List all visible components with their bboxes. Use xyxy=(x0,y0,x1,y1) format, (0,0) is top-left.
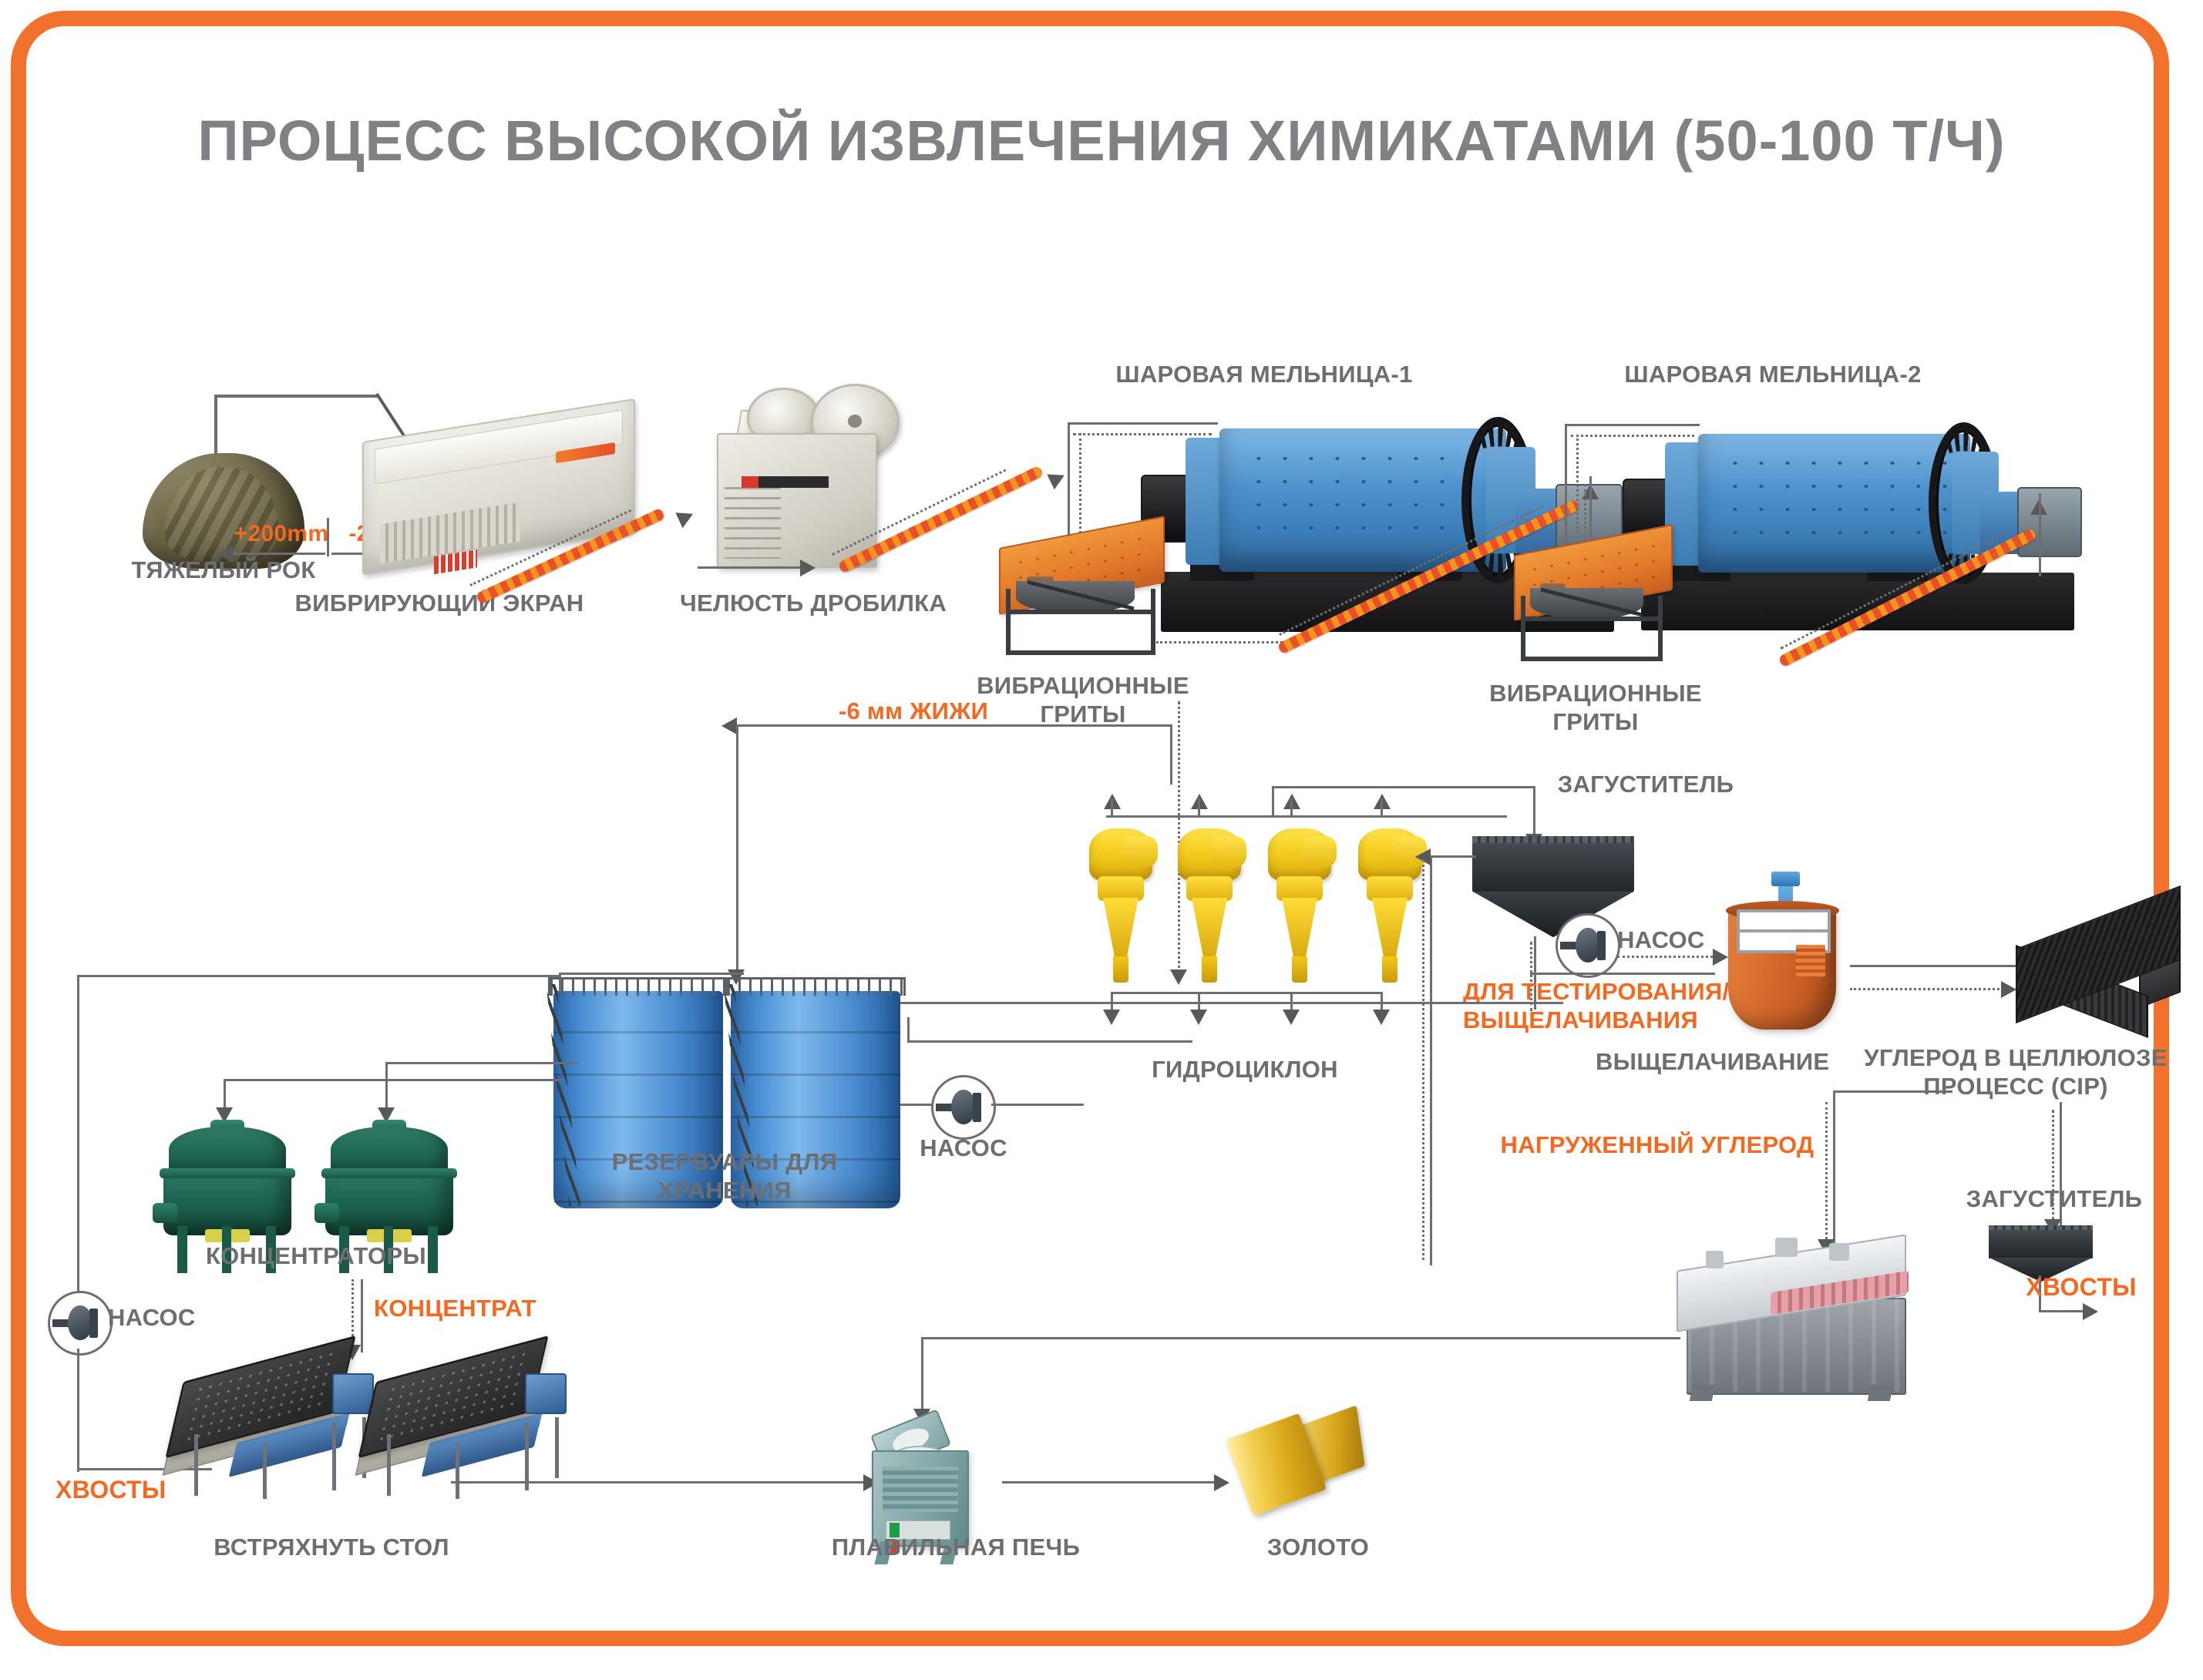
flow-line xyxy=(1430,903,1432,1265)
flow-arrow xyxy=(2001,981,2016,998)
pump-left-label: НАСОС xyxy=(108,1304,254,1332)
shaking-table-label: ВСТРЯХНУТЬ СТОЛ xyxy=(139,1534,524,1562)
flow-arrow xyxy=(2083,1303,2098,1320)
vibrating-grits-2-label: ВИБРАЦИОННЫЕ ГРИТЫ xyxy=(1449,680,1742,736)
vibrating-grits-2-graphic xyxy=(1511,539,1673,661)
flow-line xyxy=(1111,798,1113,817)
flow-line xyxy=(1156,641,1287,643)
slurry-6mm-label: -6 мм ЖИЖИ xyxy=(806,697,1021,726)
vibrating-grits-1-graphic xyxy=(996,532,1165,655)
flow-line xyxy=(907,1017,910,1042)
flow-line xyxy=(921,1337,1680,1339)
flow-line xyxy=(2039,1310,2087,1312)
flow-line xyxy=(698,566,802,569)
flow-line xyxy=(77,975,559,977)
flow-line xyxy=(1430,855,1476,858)
pump-thickener-icon xyxy=(1556,913,1620,978)
flow-line xyxy=(451,1481,867,1483)
flow-line xyxy=(1833,1090,1952,1093)
hydrocyclone-unit xyxy=(1089,828,1152,983)
flow-line xyxy=(921,1337,923,1413)
gold-bars-graphic xyxy=(1232,1414,1371,1510)
flow-arrow xyxy=(1103,1010,1120,1025)
ball-mill-1-label: ШАРОВАЯ МЕЛЬНИЦА-1 xyxy=(1064,361,1465,389)
flow-arrow xyxy=(1214,1474,1229,1491)
divider xyxy=(327,518,329,556)
hydrocyclone-unit xyxy=(1268,828,1331,983)
hydrocyclone-label: ГИДРОЦИКЛОН xyxy=(1102,1056,1387,1084)
flow-arrow xyxy=(1373,1010,1390,1025)
flow-line xyxy=(559,973,744,975)
electrowinning-unit-graphic xyxy=(1677,1233,1923,1395)
pump-left-icon xyxy=(48,1291,113,1356)
flow-line xyxy=(1272,786,1535,788)
pump-tanks-icon xyxy=(931,1075,996,1140)
shaking-table-unit xyxy=(168,1352,384,1499)
ball-mill-2-graphic xyxy=(1623,407,2093,630)
flow-line xyxy=(224,1079,226,1111)
thickener-right-label: ЗАГУСТИТЕЛЬ xyxy=(1919,1185,2189,1214)
flow-line xyxy=(77,1349,79,1472)
flow-line xyxy=(900,1104,933,1106)
flow-line xyxy=(361,1279,363,1352)
flow-line xyxy=(736,724,1172,727)
flow-arrow xyxy=(1283,1010,1300,1025)
flow-line xyxy=(1272,786,1274,817)
ball-mill-2-label: ШАРОВАЯ МЕЛЬНИЦА-2 xyxy=(1565,361,1981,389)
flow-line xyxy=(214,395,378,398)
leaching-tank-graphic xyxy=(1717,886,1852,1033)
pump-tanks-label: НАСОС xyxy=(894,1134,1033,1163)
flow-arrow xyxy=(217,546,233,563)
flow-line xyxy=(224,1079,563,1081)
flow-line xyxy=(231,553,325,555)
flow-line xyxy=(1002,1481,1218,1483)
flow-line xyxy=(736,724,738,979)
flow-line xyxy=(1290,798,1293,817)
loaded-carbon-label: НАГРУЖЕННЫЙ УГЛЕРОД xyxy=(1488,1131,1827,1160)
flow-line xyxy=(991,1104,1084,1106)
flow-line xyxy=(1833,1090,1835,1248)
hydrocyclone-unit xyxy=(1358,828,1421,983)
flow-arrow xyxy=(721,717,737,734)
flow-line xyxy=(1198,798,1200,817)
flow-line xyxy=(1106,815,1507,818)
hydrocyclone-unit xyxy=(1178,828,1241,983)
flow-line xyxy=(1170,724,1172,785)
flow-line xyxy=(1825,1102,1828,1248)
flow-line xyxy=(385,1062,578,1064)
flow-line xyxy=(1422,859,1424,1260)
storage-tanks-label: РЕЗЕРВУАРЫ ДЛЯ ХРАНЕНИЯ xyxy=(543,1148,906,1205)
flow-line xyxy=(1381,798,1383,817)
flow-line xyxy=(1850,988,2004,990)
flow-line xyxy=(1850,965,2027,967)
smelting-furnace-label: ПЛАВИЛЬНАЯ ПЕЧЬ xyxy=(794,1534,1118,1562)
flow-line xyxy=(385,1062,388,1111)
jaw-crusher-label: ЧЕЛЮСТЬ ДРОБИЛКА xyxy=(640,590,987,618)
flow-line xyxy=(1111,992,1382,994)
process-flow-diagram: ПРОЦЕСС ВЫСОКОЙ ИЗВЛЕЧЕНИЯ ХИМИКАТАМИ (5… xyxy=(0,0,2203,1680)
shaking-table-unit xyxy=(361,1352,577,1499)
concentrators-label: КОНЦЕНТРАТОРЫ xyxy=(154,1242,478,1271)
flow-line xyxy=(1530,973,1715,975)
flow-arrow xyxy=(800,559,816,576)
cip-carbon-graphic xyxy=(2016,917,2178,1033)
page-title: ПРОЦЕСС ВЫСОКОЙ ИЗВЛЕЧЕНИЯ ХИМИКАТАМИ (5… xyxy=(0,108,2203,173)
vibrating-screen-label: ВИБРИРУЮЩИЙ ЭКРАН xyxy=(277,590,601,618)
flow-arrow xyxy=(1190,1010,1207,1025)
flow-line xyxy=(907,1040,1192,1043)
flow-line xyxy=(900,1002,1563,1004)
thickener-top-label: ЗАГУСТИТЕЛЬ xyxy=(1515,771,1777,799)
concentrate-label: КОНЦЕНТРАТ xyxy=(374,1295,605,1323)
flow-line xyxy=(1617,956,1717,958)
flow-line xyxy=(2039,493,2041,576)
gold-label: ЗОЛОТО xyxy=(1210,1534,1426,1562)
tailings-right-label: ХВОСТЫ xyxy=(1969,1273,2193,1302)
flow-line xyxy=(77,975,79,1310)
